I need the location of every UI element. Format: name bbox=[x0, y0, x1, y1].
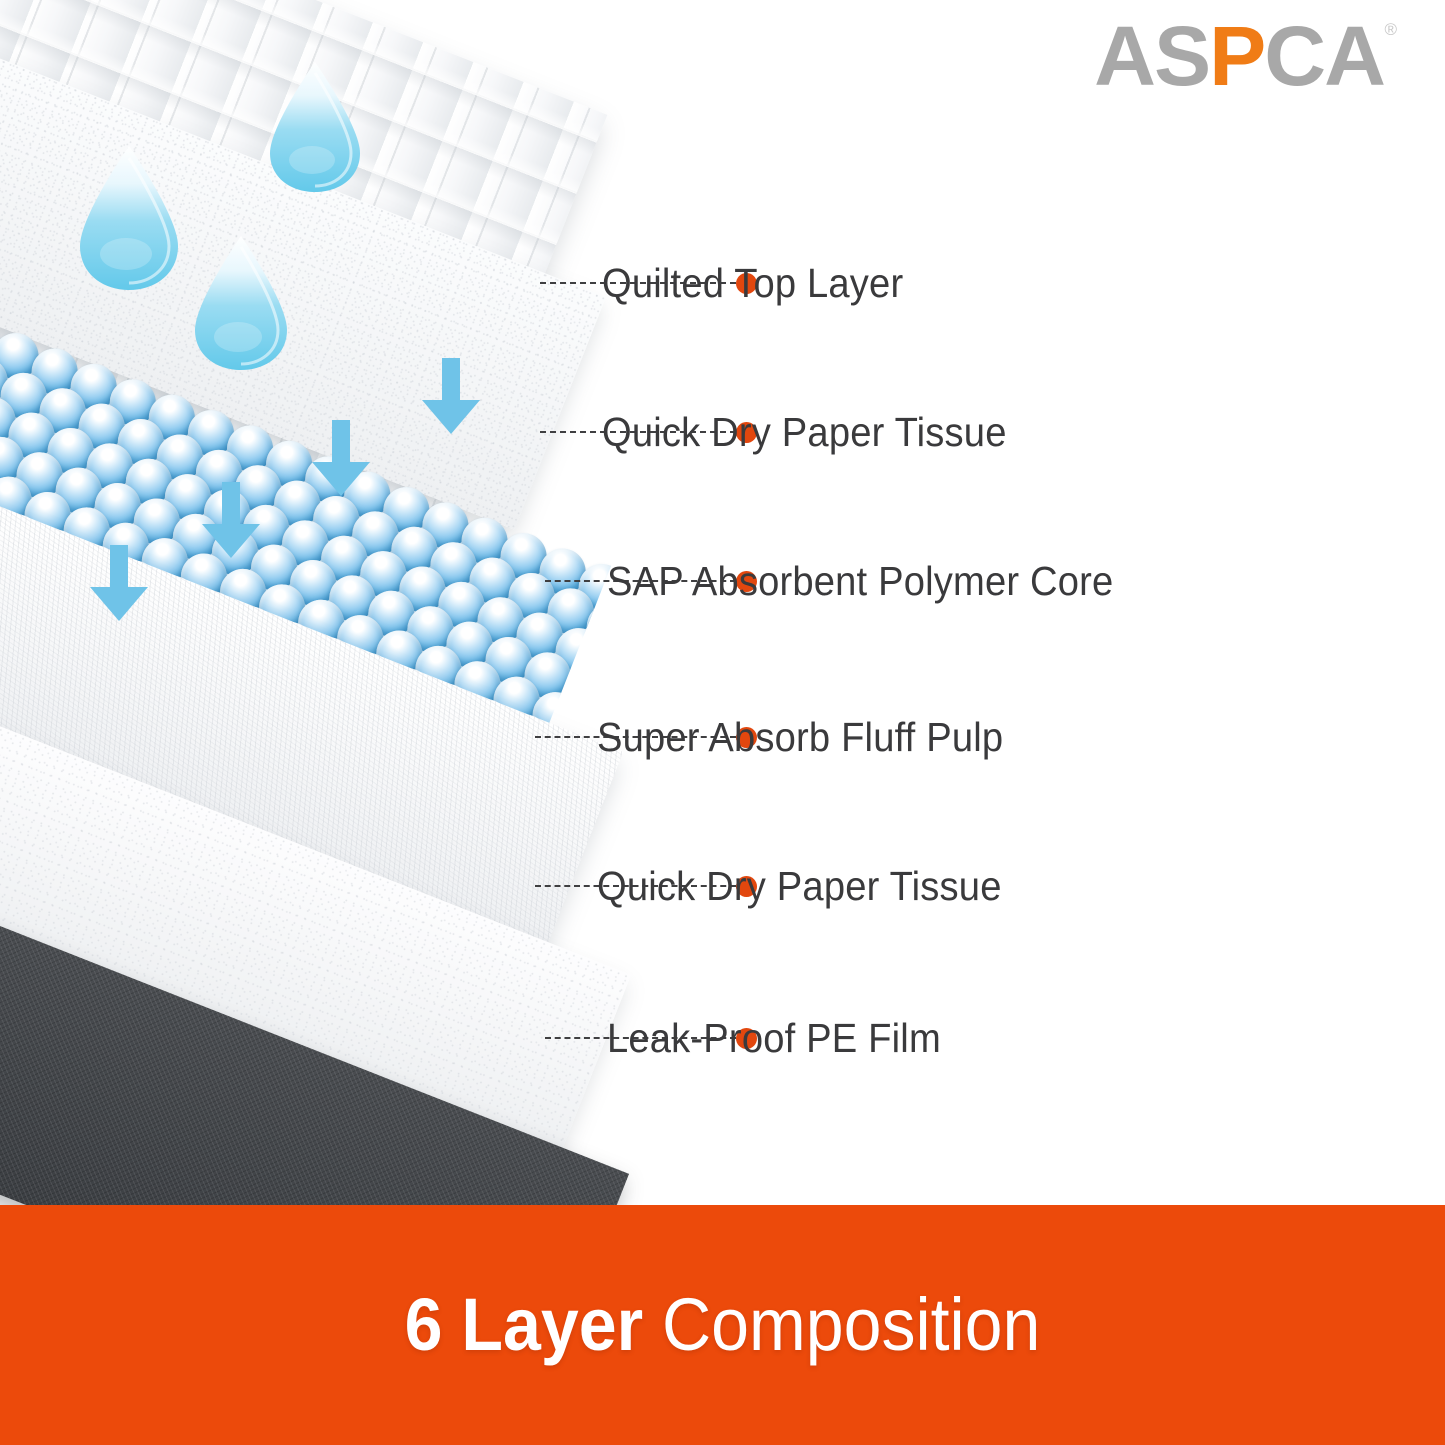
callout-label: Quilted Top Layer bbox=[602, 256, 903, 310]
callout-label: SAP Absorbent Polymer Core bbox=[607, 554, 1113, 608]
banner-headline-space bbox=[643, 1283, 662, 1366]
banner-headline-light: Composition bbox=[662, 1283, 1040, 1366]
registered-trademark-icon: ® bbox=[1384, 20, 1397, 40]
banner-headline: 6 Layer Composition bbox=[405, 1288, 1041, 1362]
callout-label: Super Absorb Fluff Pulp bbox=[597, 710, 1003, 764]
banner-headline-strong: 6 Layer bbox=[405, 1283, 643, 1366]
callout-label: Leak-Proof PE Film bbox=[607, 1011, 941, 1065]
logo-text-p: P bbox=[1210, 9, 1265, 103]
aspca-logo: ASPCA ® bbox=[1097, 14, 1397, 98]
logo-text-as: AS bbox=[1095, 9, 1210, 103]
product-infographic: ASPCA ® bbox=[0, 0, 1445, 1445]
logo-text-ca: CA bbox=[1265, 9, 1385, 103]
callout-label: Quick Dry Paper Tissue bbox=[602, 405, 1007, 459]
aspca-wordmark: ASPCA bbox=[1095, 14, 1385, 98]
callout-label: Quick Dry Paper Tissue bbox=[597, 859, 1002, 913]
bottom-banner: 6 Layer Composition bbox=[0, 1205, 1445, 1445]
callout-group: Quilted Top Layer Quick Dry Paper Tissue… bbox=[0, 0, 1445, 1205]
